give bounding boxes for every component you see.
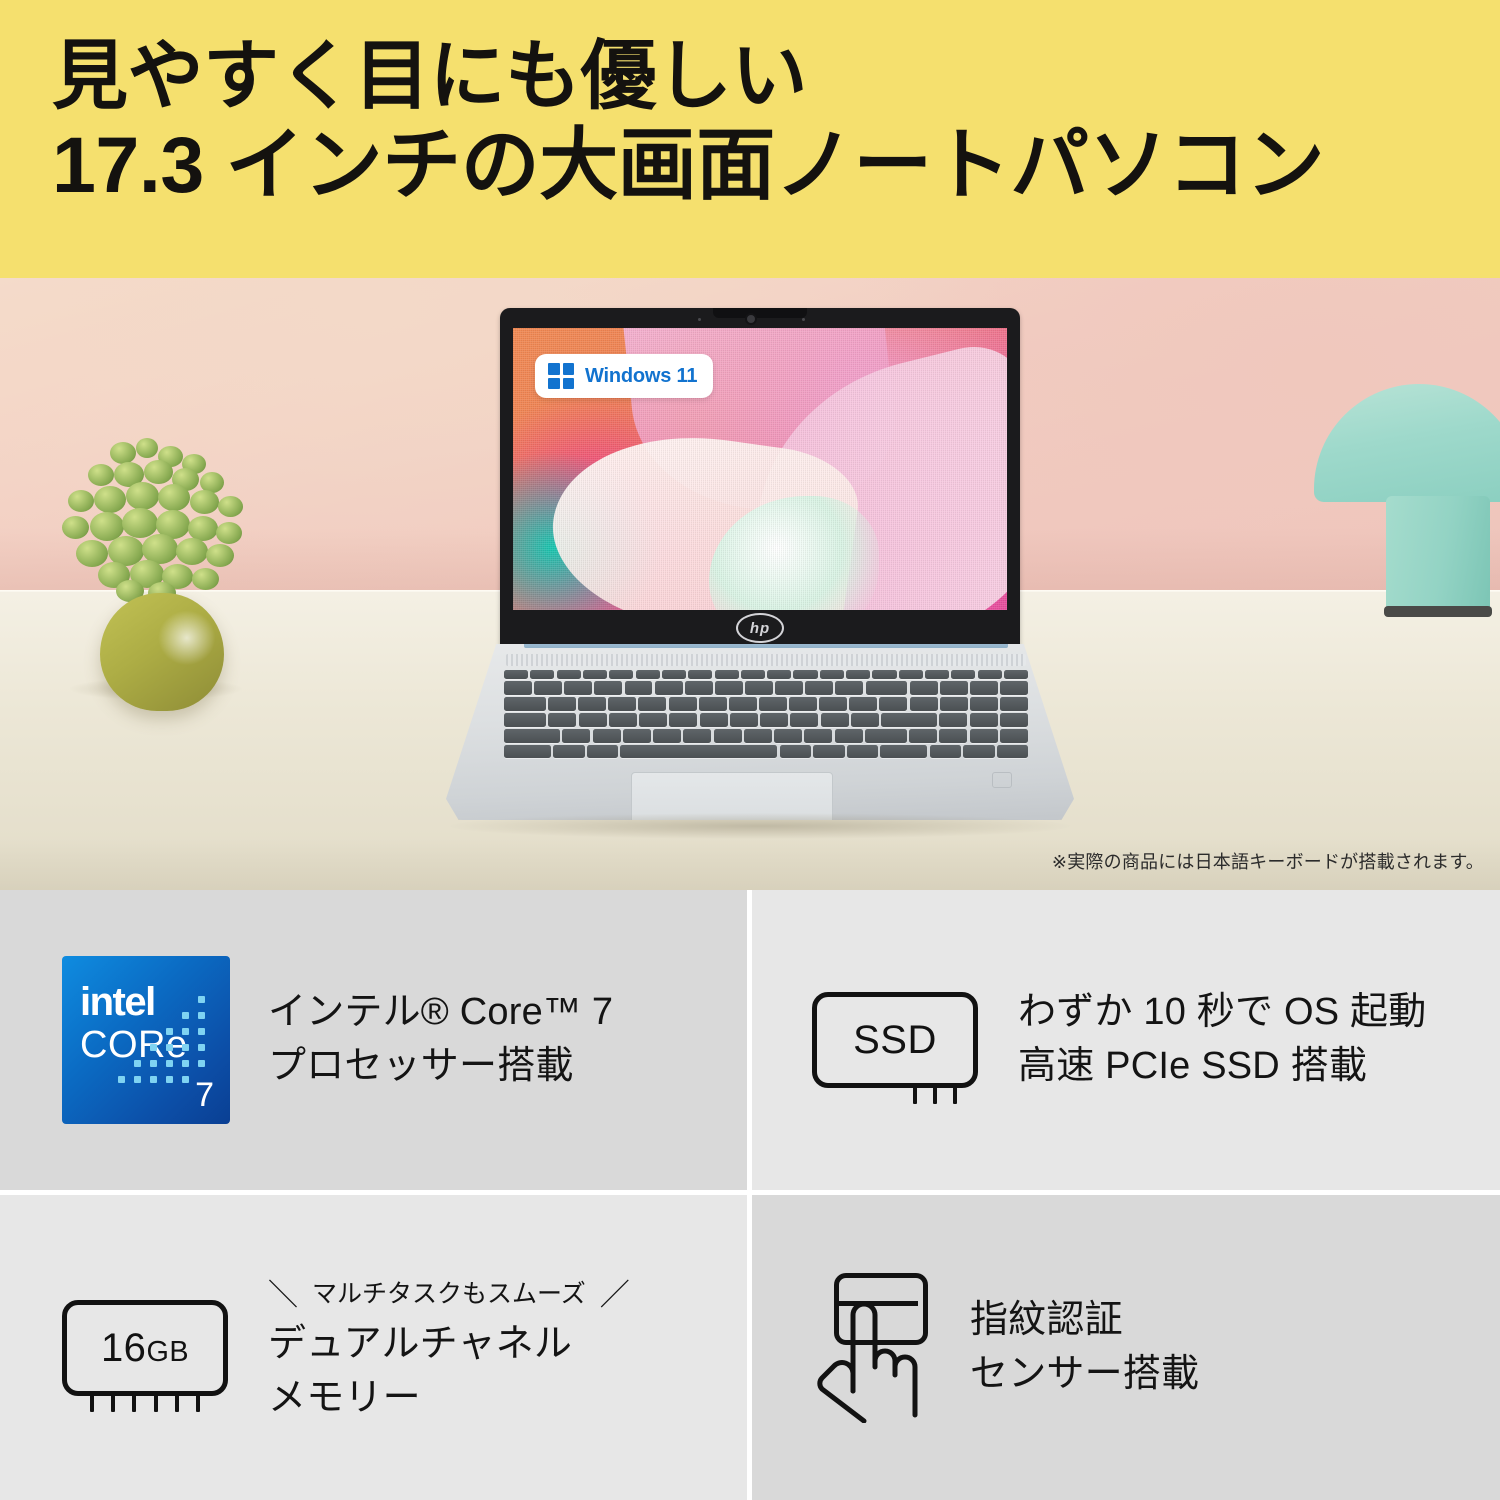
feature-line: デュアルチャネル: [268, 1318, 630, 1372]
keyboard-row-function: [504, 670, 1028, 679]
headline-text-block: 見やすく目にも優しい 17.3 インチの大画面ノートパソコン: [52, 34, 1442, 209]
feature-grid: intel CORe 7 インテル® Core™ 7 プロセッサー搭載: [0, 890, 1500, 1500]
feature-eyebrow-label: マルチタスクもスムーズ: [312, 1274, 586, 1310]
feature-cell-fingerprint: 指紋認証 センサー搭載: [752, 1195, 1500, 1500]
hp-logo: hp: [736, 614, 784, 642]
memory-chip-label: 16GB: [101, 1328, 189, 1368]
keyboard-row-home: [504, 713, 1028, 727]
memory-chip-outline: 16GB: [62, 1300, 228, 1396]
keyboard-row-numbers: [504, 681, 1028, 695]
feature-eyebrow: ＼ マルチタスクもスムーズ ／: [268, 1270, 630, 1314]
feature-text-processor: インテル® Core™ 7 プロセッサー搭載: [268, 986, 613, 1094]
microphone-left: [698, 318, 701, 321]
feature-line: わずか 10 秒で OS 起動: [1018, 986, 1426, 1040]
feature-line: プロセッサー搭載: [268, 1040, 613, 1094]
flower-pot: [100, 593, 224, 711]
intel-wordmark: intel: [80, 982, 155, 1022]
fingerprint-sensor-icon: [812, 1273, 930, 1423]
lamp-foot: [1384, 606, 1492, 617]
intel-core-7-badge-icon: intel CORe 7: [62, 956, 230, 1124]
microphone-right: [802, 318, 805, 321]
hand-icon: [812, 1295, 930, 1423]
feature-text-memory: ＼ マルチタスクもスムーズ ／ デュアルチャネル メモリー: [268, 1270, 630, 1426]
keyboard-deck: [446, 644, 1074, 820]
keyboard-disclaimer: ※実際の商品には日本語キーボードが搭載されます。: [1052, 848, 1484, 874]
laptop: Windows 11 hp: [440, 308, 1080, 838]
slash-left-icon: ＼: [268, 1270, 298, 1314]
keyboard-row-qwerty: [504, 697, 1028, 711]
potted-plant: [52, 438, 272, 673]
fingerprint-sensor: [992, 772, 1012, 788]
fingerprint-icon-art: [812, 1273, 930, 1423]
keyboard-row-shift: [504, 729, 1028, 743]
webcam-icon: [747, 315, 755, 323]
ssd-chip-icon: SSD: [812, 992, 978, 1088]
feature-cell-memory: 16GB ＼ マルチタスクもスムーズ ／ デュアルチャネル メモリー: [0, 1195, 747, 1500]
memory-chip-icon: 16GB: [62, 1300, 228, 1396]
lamp-base: [1386, 496, 1490, 614]
headline-line-1: 見やすく目にも優しい: [52, 34, 1442, 120]
laptop-base: [440, 644, 1080, 840]
feature-text-fingerprint: 指紋認証 センサー搭載: [970, 1294, 1199, 1402]
feature-line: 指紋認証: [970, 1294, 1199, 1348]
windows-11-badge: Windows 11: [535, 354, 713, 398]
feature-cell-processor: intel CORe 7 インテル® Core™ 7 プロセッサー搭載: [0, 890, 747, 1190]
intel-tier-number: 7: [195, 1078, 214, 1112]
webcam-notch: [713, 308, 807, 318]
laptop-lid: Windows 11 hp: [500, 308, 1020, 648]
windows-logo: [548, 363, 574, 389]
speaker-grille: [506, 654, 1026, 666]
keyboard: [504, 670, 1028, 764]
ssd-chip-label: SSD: [853, 1020, 937, 1060]
windows-11-label: Windows 11: [585, 365, 697, 388]
ssd-chip-outline: SSD: [812, 992, 978, 1088]
feature-cell-storage: SSD わずか 10 秒で OS 起動 高速 PCIe SSD 搭載: [752, 890, 1500, 1190]
keyboard-row-space: [504, 745, 1028, 759]
feature-line: インテル® Core™ 7: [268, 986, 613, 1040]
headline-banner: 見やすく目にも優しい 17.3 インチの大画面ノートパソコン: [0, 0, 1500, 278]
slash-right-icon: ／: [600, 1270, 630, 1314]
headline-line-2: 17.3 インチの大画面ノートパソコン: [52, 120, 1442, 209]
hp-logo-mark: hp: [736, 613, 784, 643]
feature-text-storage: わずか 10 秒で OS 起動 高速 PCIe SSD 搭載: [1018, 986, 1426, 1094]
laptop-screen: Windows 11: [513, 328, 1007, 610]
feature-line: メモリー: [268, 1372, 630, 1426]
laptop-shadow: [450, 813, 1070, 839]
product-feature-page: 見やすく目にも優しい 17.3 インチの大画面ノートパソコン: [0, 0, 1500, 1500]
product-photo: Windows 11 hp: [0, 278, 1500, 890]
feature-line: センサー搭載: [970, 1348, 1199, 1402]
feature-line: 高速 PCIe SSD 搭載: [1018, 1040, 1426, 1094]
